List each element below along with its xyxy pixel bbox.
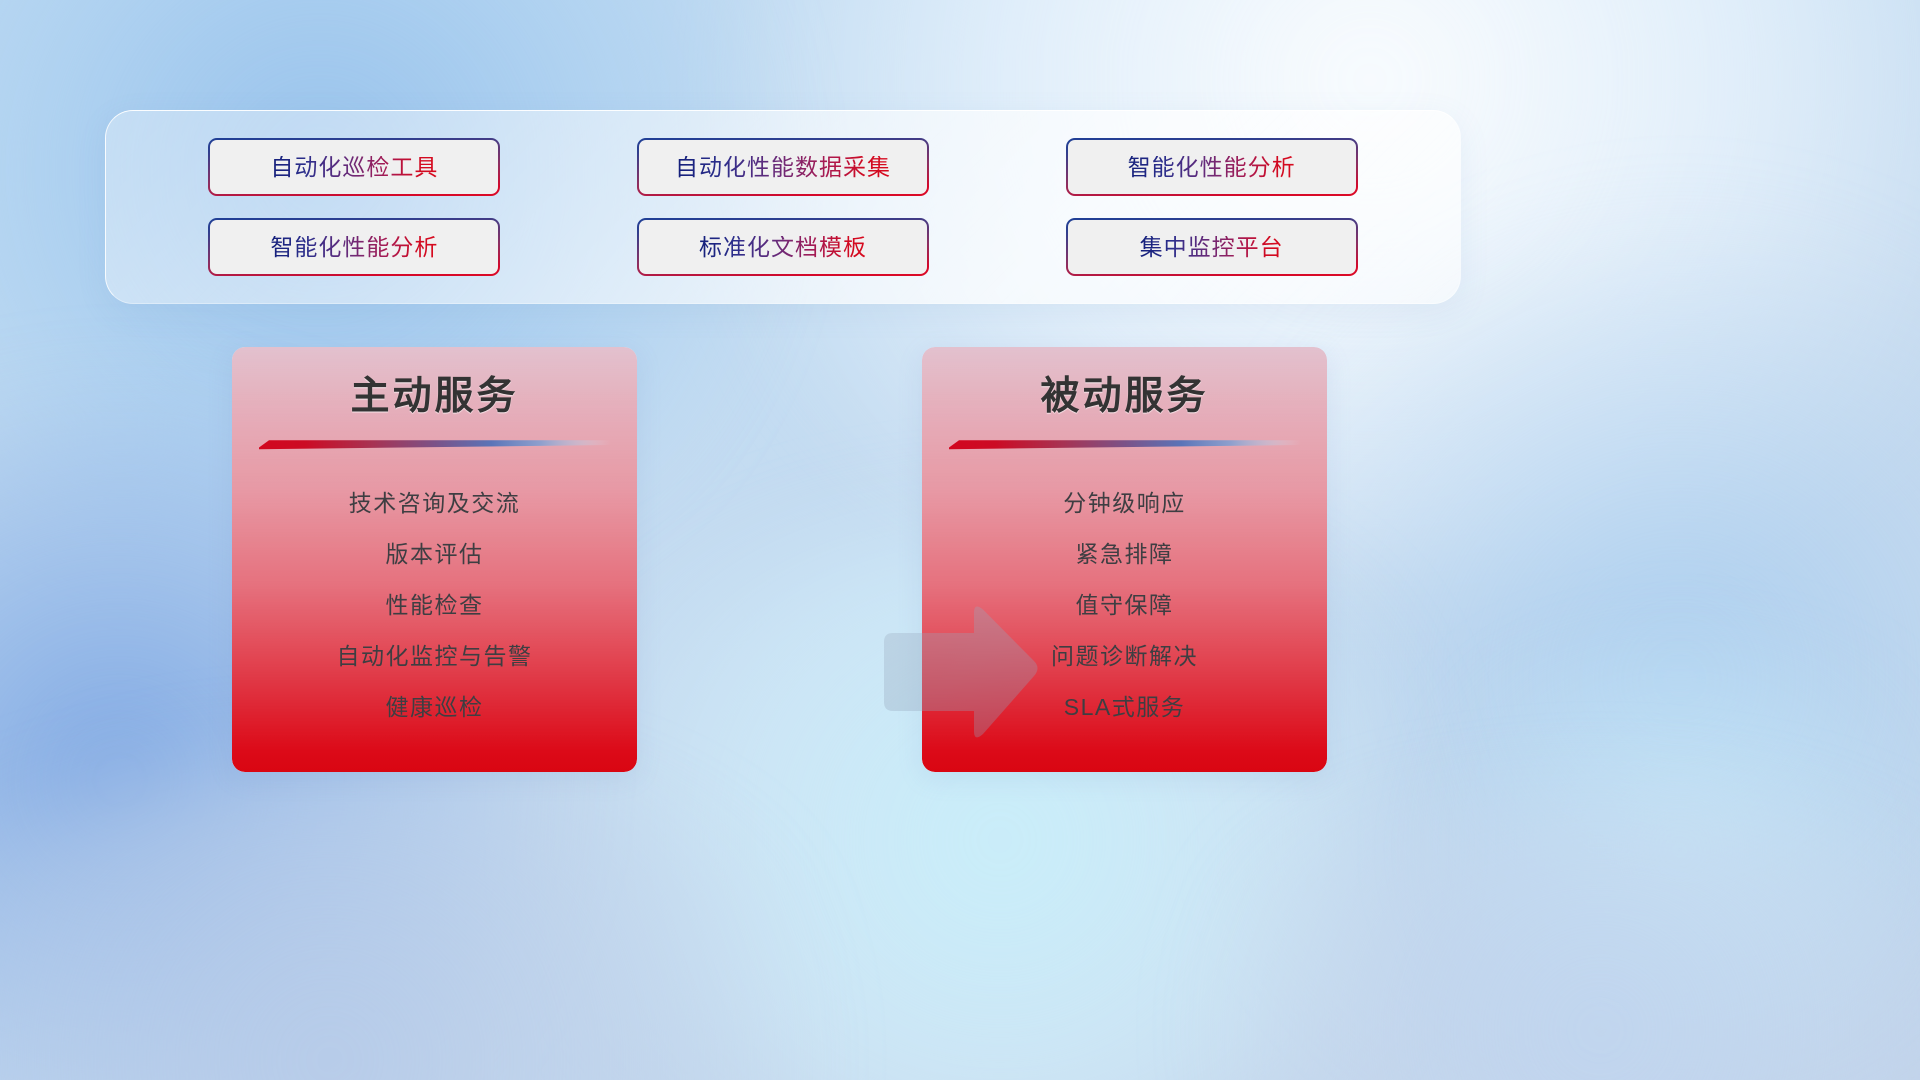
service-list-item: 自动化监控与告警 <box>250 631 619 682</box>
capability-pill[interactable]: 集中监控平台 <box>1066 218 1358 276</box>
capability-pill[interactable]: 智能化性能分析 <box>208 218 500 276</box>
service-list-item: 技术咨询及交流 <box>250 478 619 529</box>
capability-pill[interactable]: 自动化巡检工具 <box>208 138 500 196</box>
card-divider <box>259 436 611 452</box>
service-list-active: 技术咨询及交流 版本评估 性能检查 自动化监控与告警 健康巡检 <box>232 452 637 733</box>
card-divider <box>949 436 1301 452</box>
arrow-right-icon <box>880 600 1042 746</box>
capability-panel: 自动化巡检工具 自动化性能数据采集 智能化性能分析 智能化性能分析 标准化文档模… <box>105 110 1461 304</box>
card-title: 主动服务 <box>232 347 637 422</box>
service-list-item: 分钟级响应 <box>940 478 1309 529</box>
service-card-active: 主动服务 技术咨询及交流 版本评估 性能检查 自动化监控与告警 <box>232 347 637 772</box>
capability-pill[interactable]: 自动化性能数据采集 <box>637 138 929 196</box>
card-title: 被动服务 <box>922 347 1327 422</box>
capability-pill-label: 智能化性能分析 <box>270 236 438 259</box>
service-list-item: 性能检查 <box>250 580 619 631</box>
capability-pill-label: 自动化性能数据采集 <box>675 156 891 179</box>
capability-pill-label: 自动化巡检工具 <box>270 156 438 179</box>
capability-pill[interactable]: 标准化文档模板 <box>637 218 929 276</box>
capability-pill-label: 智能化性能分析 <box>1128 156 1296 179</box>
capability-pill[interactable]: 智能化性能分析 <box>1066 138 1358 196</box>
service-list-item: 紧急排障 <box>940 529 1309 580</box>
service-list-item: 版本评估 <box>250 529 619 580</box>
service-list-item: 健康巡检 <box>250 682 619 733</box>
capability-pill-label: 标准化文档模板 <box>699 236 867 259</box>
capability-pill-label: 集中监控平台 <box>1140 236 1284 259</box>
